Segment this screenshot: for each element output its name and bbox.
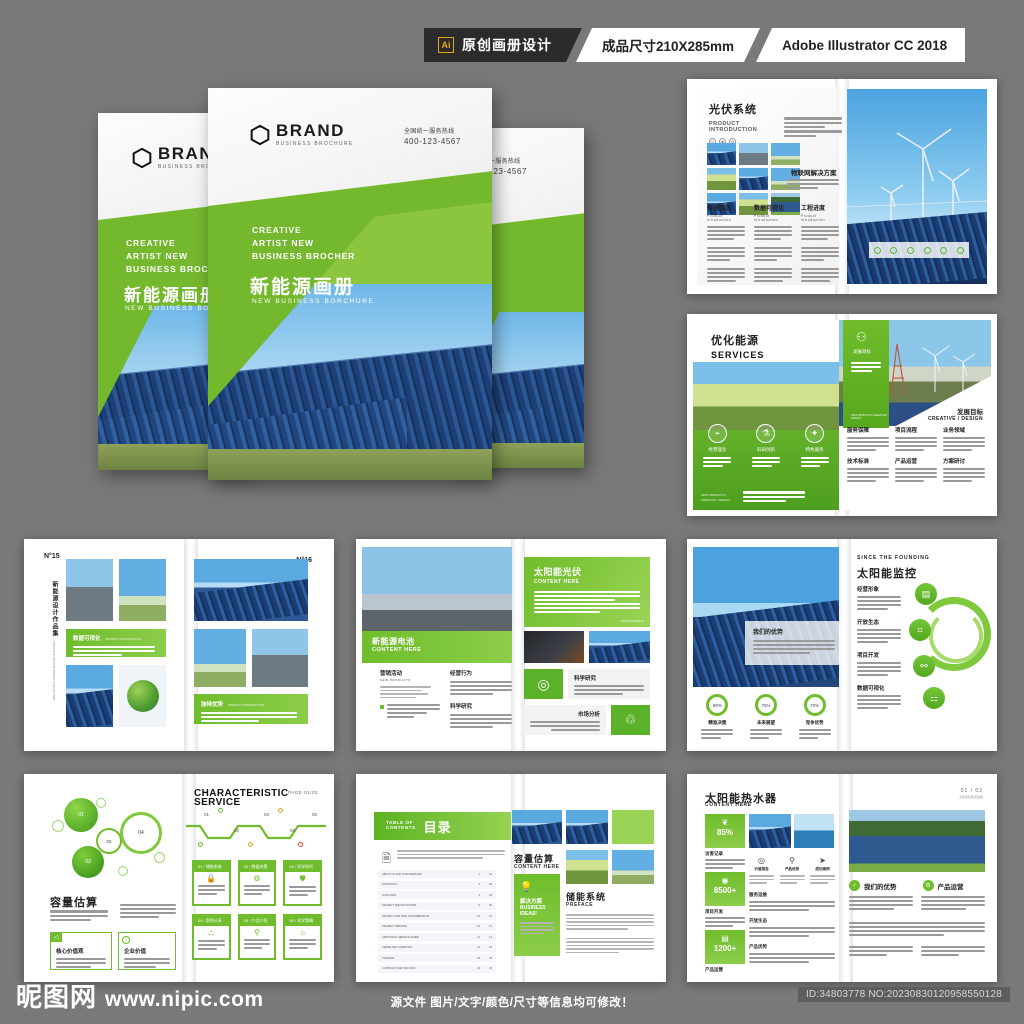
pv-title: 光伏系统	[709, 101, 757, 117]
hexagon-icon	[132, 147, 152, 169]
monitor-sections: 经营形象 开放生态 项目开发 数据可视化	[857, 585, 901, 717]
pv-columns: 价值观念 Product introduction 数据可视化 Product …	[707, 203, 839, 282]
stat-label: 竞争优势	[799, 720, 831, 726]
characteristic-card: 04 / 案例分享 ⛬	[192, 914, 231, 960]
heater-stat-tile-1: ❦ 85%	[705, 814, 745, 848]
contents-row-label: PROJECT AND TIME CONSIDERATION	[382, 915, 470, 918]
heater-photo	[794, 814, 834, 848]
contents-row-page: 02	[480, 883, 492, 886]
spread-heater: 太阳能热水器 CONTENT HERE ❦ 85% 访客记录 ◉ 8500+ 项…	[687, 774, 997, 982]
contents-row-page: 03	[480, 894, 492, 897]
battery-photo-title-en: CONTENT HERE	[372, 647, 512, 653]
battery-card-2: 市场分析	[524, 705, 606, 735]
services-right-title: 发展目标	[928, 406, 983, 416]
contents-row-page: 20	[480, 967, 492, 970]
status-dot	[940, 247, 947, 254]
heater-section: 产品优势	[749, 944, 835, 963]
thumb	[707, 168, 736, 190]
battery-hero-photo	[362, 547, 512, 637]
gallery-photo	[194, 629, 246, 687]
pv-column: 工程进度 Product introduction	[801, 203, 839, 282]
leaf-icon: ❦	[705, 818, 745, 827]
headset-icon: ⌗	[909, 619, 931, 641]
gallery-photo	[66, 559, 113, 621]
services-item-label: 项目流程	[895, 426, 937, 434]
pv-en-line2: INTRODUCTION	[709, 127, 757, 133]
heater-section: 服务运维	[749, 892, 835, 911]
send-icon: ➤	[810, 856, 835, 865]
step-label: 01	[204, 812, 209, 817]
contents-cn-title: 目录	[424, 817, 452, 836]
watermark-id: ID:34803778 NO:20230830120958550128	[798, 987, 1010, 1002]
cover-brand-sub: BUSINESS BROCHURE	[276, 141, 353, 147]
contents-row: PROJECT AND TIME CONSIDERATION 10 10	[378, 912, 496, 920]
contents-row-num: 12	[470, 925, 480, 928]
contents-row-num: 20	[470, 967, 480, 970]
contents-green-tile	[612, 810, 654, 844]
contents-row-label: ABOUT US AND OUR SERVICES	[382, 873, 470, 876]
heater-stat-value: 8500+	[705, 886, 745, 895]
services-green-tab: ⚇ 发展目标 NEW PRODUCTS CREATIVE / DESIGN	[843, 320, 889, 428]
star-icon: ✦	[805, 424, 824, 443]
pv-col-cn: 价值观念	[707, 203, 745, 212]
contents-row-page: 18	[480, 957, 492, 960]
card-label: 02 / 数据决策	[240, 862, 275, 872]
puzzle-icon: ⛬	[194, 928, 229, 938]
gallery-bar-right: 独特优势 PRODUCT INTRODUCTION	[194, 694, 308, 724]
bulb-icon: ☼	[285, 928, 320, 937]
characteristic-bubble-graphic: 01 02 03 04	[50, 790, 174, 888]
thumb	[739, 168, 768, 190]
pv-indicator-bar	[869, 242, 969, 258]
contents-row-page: 12	[480, 925, 492, 928]
spread-characteristic: 01 02 03 04 容量估算 ◁ 核心价值观 i 企业价值 CHARACTE…	[24, 774, 334, 982]
target-user-icon: ⚇	[856, 330, 889, 344]
battery-card-1: 科学研究	[568, 669, 650, 699]
monitor-section: 数据可视化	[857, 684, 901, 709]
services-feature-label: 经营理念	[703, 447, 731, 453]
pv-col-en: Product introduction	[754, 214, 792, 222]
marker-dot	[218, 808, 223, 813]
cover-cn-title: 新能源画册	[250, 272, 355, 299]
gear-icon: ⚙	[240, 874, 275, 883]
hexagon-icon	[250, 124, 270, 146]
spread-contents: TABLE OF CONTENTS 目录 🗎 ABOUT US AND OUR …	[356, 774, 666, 982]
marker-dot	[248, 842, 253, 847]
contents-row-num: 18	[470, 957, 480, 960]
services-right-sub: CREATIVE / DESIGN	[928, 416, 983, 422]
contents-preface-lines	[566, 914, 654, 953]
heater-subtitle: CONTENT HERE	[705, 802, 752, 808]
contents-row: PROJECT SPECIFICATIONS 5 05	[378, 902, 496, 910]
stat-value: 75%	[761, 703, 770, 708]
battery-photo-title-cn: 新能源电池	[372, 636, 512, 647]
contents-row-page: 14	[480, 936, 492, 939]
battery-col3-cn: 科学研究	[450, 702, 512, 710]
contents-row-page: 01	[480, 873, 492, 876]
contents-photo	[566, 850, 608, 884]
heater-stat-tile-2: ◉ 8500+	[705, 872, 745, 906]
battery-green-title-cn: 太阳能光伏	[524, 557, 650, 578]
bubble-02: 02	[96, 828, 122, 854]
gallery-side-text: 新能源设计作品集 CREATIVE DESIGN WORKS COLLECTIO…	[45, 581, 63, 701]
cover-cn-title: 新能源画册	[124, 281, 219, 306]
heater-stat-tile-3: ▤ 1200+	[705, 930, 745, 964]
characteristic-step-flow: 01 02 03 04 05	[186, 812, 326, 850]
battery-col1-cn: 营销活动	[380, 669, 440, 677]
contents-row: TRAINING 18 18	[378, 954, 496, 962]
characteristic-card: 03 / 科学研究 ⛊	[283, 860, 322, 906]
characteristic-page-label: PAGE·01/02	[288, 790, 318, 795]
contents-row-num: 3	[470, 894, 480, 897]
monitor-section-label: 数据可视化	[857, 684, 901, 692]
characteristic-intro-lines-2	[120, 904, 176, 918]
gallery-bar-left-cn: 数据可视化	[73, 634, 101, 642]
gallery-photo	[119, 559, 166, 621]
contents-row-label: TRAINING	[382, 957, 470, 960]
card-label: 01 / 储能系统	[194, 862, 229, 872]
monitor-section-label: 经营形象	[857, 585, 901, 593]
contents-row-label: PROJECT SPECIFICATIONS	[382, 904, 470, 907]
spread-gallery: N°15 N°16 新能源设计作品集 CREATIVE DESIGN WORKS…	[24, 539, 334, 751]
stat-ring: 90%	[706, 694, 728, 716]
contents-row: OUR STAFF 3 03	[378, 891, 496, 899]
services-feature-row: ⌁ 经营理念 ⚗ 科研创新 ✦ 特色服务	[693, 424, 839, 467]
services-item-label: 产品运营	[895, 457, 937, 465]
contents-preface-en: PREFACE	[566, 902, 593, 908]
card-label: 03 / 科学研究	[285, 862, 320, 872]
heater-page-sub: 太阳能新能源画册	[959, 795, 983, 799]
pv-column: 数据可视化 Product introduction	[754, 203, 792, 282]
stat-ring: 70%	[804, 694, 826, 716]
contents-mid-en: CONTENT HERE	[514, 864, 559, 870]
signal-icon: ◉	[705, 876, 745, 885]
gallery-bar-left: 数据可视化 PRODUCT INTRODUCTION	[66, 629, 166, 657]
contents-row-num: 10	[470, 915, 480, 918]
services-left-page: 优化能源 SERVICES ⌁ 经营理念 ⚗ 科研创新 ✦ 特色服务	[693, 320, 839, 510]
monitor-section: 开放生态	[857, 618, 901, 643]
gallery-bar-right-en: PRODUCT INTRODUCTION	[228, 703, 264, 707]
services-title: 优化能源	[711, 332, 764, 348]
stat-value: 70%	[810, 703, 819, 708]
contents-row-page: 10	[480, 915, 492, 918]
cover-brand-name: BRAND	[276, 122, 353, 139]
monitor-stats-row: 90% 精准决策 75% 未来展望 70% 竞争优势	[693, 694, 839, 739]
gallery-bar-left-en: PRODUCT INTRODUCTION	[106, 637, 142, 641]
contents-badge-en2: IDEAS!	[520, 911, 554, 917]
data-icon: ⚏	[923, 687, 945, 709]
card-label: 05 / 产品介绍	[240, 916, 275, 926]
battery-card1-cn: 科学研究	[574, 674, 644, 682]
bullet-marker	[380, 705, 384, 709]
pv-hero-photo	[847, 89, 987, 284]
monitor-section-label: 项目开发	[857, 651, 901, 659]
contents-row-page: 05	[480, 904, 492, 907]
contents-row: PROJECT TIMELINE 12 12	[378, 923, 496, 931]
pv-header-lines	[784, 117, 842, 137]
contents-row-label: PROJECT TIMELINE	[382, 925, 470, 928]
battery-photo	[589, 631, 650, 663]
step-label: 05	[312, 812, 317, 817]
heater-stat-label-2: 项目开发	[705, 909, 723, 915]
bulb-icon: 💡	[520, 882, 554, 893]
battery-col1-en: NEW PRODUCTS	[380, 678, 440, 682]
monitor-section: 项目开发	[857, 651, 901, 676]
poster-stage: Ai 原创画册设计 成品尺寸210X285mm Adobe Illustrato…	[0, 0, 1024, 1024]
pv-column: 价值观念 Product introduction	[707, 203, 745, 282]
stat-value: 90%	[713, 703, 722, 708]
step-label: 03	[264, 812, 269, 817]
heater-icon-label: 成功案例	[810, 867, 835, 872]
contents-photo	[512, 810, 562, 844]
pv-col-cn: 工程进度	[801, 203, 839, 212]
status-dot	[874, 247, 881, 254]
services-item: 技术标准	[847, 457, 889, 482]
heater-stat-value: 1200+	[705, 944, 745, 953]
heater-body-lines	[849, 922, 985, 936]
cover-en-line3: BUSINESS BROCHER	[252, 250, 355, 263]
bubble-04: 04	[120, 812, 162, 854]
marker-dot	[198, 842, 203, 847]
gallery-side-cn: 新能源设计作品集	[51, 581, 57, 637]
services-feature-label: 科研创新	[752, 447, 780, 453]
contents-row-label: PORTFOLIO	[382, 883, 470, 886]
illustrator-icon: Ai	[438, 37, 454, 53]
heater-icon-label: 产品优势	[780, 867, 805, 872]
pv-col-cn: 数据可视化	[754, 203, 792, 212]
contents-badge-cn: 解决方案	[520, 897, 554, 905]
battery-green-title-en: CONTENT HERE	[524, 578, 650, 585]
heater-stat-value: 85%	[705, 828, 745, 837]
characteristic-note-right: i 企业价值	[118, 932, 176, 970]
cover-cn-sub: NEW BUSINESS BORCHURE	[252, 298, 374, 305]
services-en-title: SERVICES	[711, 350, 764, 360]
contents-row: ADDITIONAL SERVICE OFFER 14 14	[378, 933, 496, 941]
services-feature-label: 特色服务	[801, 447, 829, 453]
gallery-photo	[252, 629, 308, 687]
characteristic-card-grid: 01 / 储能系统 🔒 02 / 数据决策 ⚙ 03 / 科学研究 ⛊ 04 /…	[192, 860, 322, 960]
characteristic-card: 01 / 储能系统 🔒	[192, 860, 231, 906]
stat-ring: 75%	[755, 694, 777, 716]
contents-photo	[566, 810, 608, 844]
contents-row: PORTFOLIO 2 02	[378, 881, 496, 889]
services-item: 服务保障	[847, 426, 889, 451]
pv-col-en: Product introduction	[707, 214, 745, 222]
spread-photovoltaic: 光伏系统 PRODUCT INTRODUCTION ◎ ◉ ◍ 物联网解决方案	[687, 79, 997, 294]
watermark-site-url: www.nipic.com	[105, 988, 264, 1012]
services-item-label: 服务保障	[847, 426, 889, 434]
services-item-label: 技术标准	[847, 457, 889, 465]
contents-row-page: 16	[480, 946, 492, 949]
services-panel-sub: NEW PRODUCTS CREATIVE / DESIGN	[851, 414, 889, 420]
battery-photo-caption: 新能源电池 CONTENT HERE	[362, 631, 512, 663]
characteristic-title-block: CHARACTERISTIC SERVICE	[194, 788, 289, 808]
services-corner-note: NEW PRODUCTSCREATIVE / DESIGN	[701, 493, 730, 502]
card-label: 04 / 案例分享	[194, 916, 229, 926]
contents-row-label: CONTRACT AND SIGN OFF	[382, 967, 470, 970]
battery-recycle-tile: ♲	[611, 705, 650, 735]
contents-row-num: 5	[470, 904, 480, 907]
services-item: 方案研讨	[943, 457, 985, 482]
contents-row: CONTRACT AND SIGN OFF 20 20	[378, 965, 496, 973]
sound-icon: ◁	[50, 932, 62, 942]
marker-dot	[278, 808, 283, 813]
cover-hotline-number: 400-123-4567	[404, 137, 461, 146]
bubble-label: 03	[85, 859, 91, 865]
search-icon: ⚲	[240, 928, 275, 937]
shield-icon: ⛊	[285, 874, 320, 884]
heater-stat-label-1: 访客记录	[705, 851, 723, 857]
heater-stat-label-3: 产品运营	[705, 967, 723, 973]
heater-page-label: 01 / 02	[959, 788, 983, 794]
status-dot	[890, 247, 897, 254]
battery-col2-cn: 经营行为	[450, 669, 512, 677]
contents-photo	[612, 850, 654, 884]
contents-row-label: TERMS AND CONDITION	[382, 946, 470, 949]
heater-sections: 服务运维 开放生态 产品优势	[749, 892, 835, 963]
battery-icon-tile: ◎	[524, 669, 563, 699]
top-banner: Ai 原创画册设计 成品尺寸210X285mm Adobe Illustrato…	[424, 28, 965, 62]
gallery-photo-globe	[119, 665, 166, 727]
heater-photo	[749, 814, 791, 848]
characteristic-card: 05 / 产品介绍 ⚲	[238, 914, 277, 960]
status-dot	[957, 247, 964, 254]
contents-row-num: 1	[470, 873, 480, 876]
status-dot	[924, 247, 931, 254]
services-item: 业务领域	[943, 426, 985, 451]
watermark-site-cn: 昵图网	[16, 977, 97, 1014]
banner-size-label: 成品尺寸210X285mm	[576, 28, 760, 62]
services-panel-label: 发展目标	[853, 349, 889, 355]
thumb	[707, 143, 736, 165]
banner-origin-design: Ai 原创画册设计	[424, 28, 582, 62]
battery-photo	[524, 631, 584, 663]
contents-green-banner: TABLE OF CONTENTS 目录	[374, 812, 511, 840]
heater-section-label: 开放生态	[749, 918, 835, 924]
earth-icon	[127, 680, 159, 712]
spread-battery: 新能源电池 CONTENT HERE 营销活动 NEW PRODUCTS 经营行…	[356, 539, 666, 751]
bubble-label: 02	[106, 839, 111, 844]
services-right-page: ⚇ 发展目标 NEW PRODUCTS CREATIVE / DESIGN 发展…	[839, 320, 991, 510]
spread-services: 优化能源 SERVICES ⌁ 经营理念 ⚗ 科研创新 ✦ 特色服务	[687, 314, 997, 516]
services-item: 项目流程	[895, 426, 937, 451]
monitor-eyebrow: SINCE THE FOUNDING	[857, 555, 930, 561]
pin-icon: ⚲	[780, 856, 805, 865]
characteristic-note-right-label: 企业价值	[124, 947, 170, 955]
characteristic-card: 02 / 数据决策 ⚙	[238, 860, 277, 906]
contents-row: TERMS AND CONDITION 16 16	[378, 944, 496, 952]
contents-idea-badge: 💡 解决方案 BUSINESS IDEAS!	[514, 874, 560, 956]
pv-caption-lines	[787, 179, 839, 189]
step-label: 02	[234, 828, 239, 833]
gallery-bar-right-cn: 独特优势	[201, 700, 223, 708]
bubble-01: 01	[64, 798, 98, 832]
chart-icon: ▤	[705, 934, 745, 943]
compass-icon: ◎	[749, 856, 774, 865]
thumb	[771, 143, 800, 165]
bubble-label: 01	[78, 812, 84, 818]
services-item: 产品运营	[895, 457, 937, 482]
gallery-side-en: CREATIVE DESIGN WORKS COLLECTION	[52, 641, 56, 700]
cover-logo: BRAND BUSINESS BROCHURE	[250, 122, 353, 147]
cover-en-line1: CREATIVE	[252, 224, 355, 237]
heater-icon-row: ◎ 价值观念 ⚲ 产品优势 ➤ 成功案例	[749, 856, 835, 884]
monitor-title: 太阳能监控	[857, 565, 917, 581]
contents-list: ABOUT US AND OUR SERVICES 1 01 PORTFOLIO…	[378, 870, 496, 973]
cover-en-line2: ARTIST NEW	[252, 237, 355, 250]
document-icon: 🗎	[382, 850, 391, 869]
contents-row-num: 2	[470, 883, 480, 886]
banner-software-label: Adobe Illustrator CC 2018	[756, 28, 965, 62]
cover-hotline: 全国统一服务热线 400-123-4567	[404, 126, 461, 146]
marker-dot	[298, 842, 303, 847]
services-bottom-lines	[743, 491, 805, 502]
contents-en-line2: CONTENTS	[386, 826, 416, 831]
contents-row-num: 16	[470, 946, 480, 949]
research-icon: ⚗	[756, 424, 775, 443]
monitor-overlay-title: 我们的优势	[753, 627, 835, 636]
monitor-overlay: 我们的优势	[745, 621, 843, 665]
heater-hero-photo	[849, 810, 985, 872]
services-item-label: 方案研讨	[943, 457, 985, 465]
monitor-hero-photo	[693, 547, 839, 687]
monitor-ring-graphic: ▤ ⌗ ⚯ ⚏	[909, 583, 993, 713]
info-icon: i	[122, 936, 130, 944]
status-dot	[907, 247, 914, 254]
services-right-grid: 服务保障 项目流程 业务领域 技术标准 产品运营 方案研讨	[847, 426, 985, 482]
battery-card2-cn: 市场分析	[530, 710, 600, 718]
gallery-photo	[194, 559, 308, 621]
stat-label: 精准决策	[701, 720, 733, 726]
characteristic-note-left: ◁ 核心价值观	[50, 932, 112, 970]
network-icon: ⚯	[913, 655, 935, 677]
pv-caption: 物联网解决方案	[791, 167, 837, 177]
heater-right-item-label: 我们的优势	[864, 881, 897, 891]
lock-icon: 🔒	[194, 874, 229, 883]
heater-icon-label: 价值观念	[749, 867, 774, 872]
card-label: 06 / 科学策略	[285, 916, 320, 926]
services-item-label: 业务领域	[943, 426, 985, 434]
cover-en-title: CREATIVE ARTIST NEW BUSINESS BROCHER	[252, 224, 355, 262]
battery-green-card: 太阳能光伏 CONTENT HERE CREATIVE DESIGN	[524, 557, 650, 627]
characteristic-section-title: 容量估算	[50, 894, 98, 910]
watermark-left: 昵图网 www.nipic.com	[16, 977, 264, 1014]
contents-row-label: OUR STAFF	[382, 894, 470, 897]
battery-green-corner: CREATIVE DESIGN	[621, 620, 644, 623]
heater-section: 开放生态	[749, 918, 835, 937]
step-label: 04	[290, 828, 295, 833]
zigzag-path-icon	[186, 812, 326, 850]
cover-front: BRAND BUSINESS BROCHURE 全国统一服务热线 400-123…	[208, 88, 492, 480]
heater-section-label: 服务运维	[749, 892, 835, 898]
heater-section-label: 产品优势	[749, 944, 835, 950]
spread-monitor: 我们的优势 90% 精准决策 75% 未来展望 70% 竞争优势	[687, 539, 997, 751]
gear-icon: ⚙	[923, 880, 934, 891]
banner-origin-label: 原创画册设计	[462, 35, 552, 55]
gallery-photo	[66, 665, 113, 727]
check-icon: ✓	[849, 880, 860, 891]
characteristic-intro-lines-1	[50, 910, 108, 921]
bubble-label: 04	[138, 830, 144, 836]
watermark-note: 源文件 图片/文字/颜色/尺寸等信息均可修改！	[391, 994, 634, 1010]
bubble-03: 03	[72, 846, 104, 878]
stat-label: 未来展望	[750, 720, 782, 726]
gallery-page-left-num: N°15	[44, 553, 60, 560]
characteristic-card: 06 / 科学策略 ☼	[283, 914, 322, 960]
monitor-section-label: 开放生态	[857, 618, 901, 626]
contents-row-label: ADDITIONAL SERVICE OFFER	[382, 936, 470, 939]
chart-icon: ▤	[915, 583, 937, 605]
